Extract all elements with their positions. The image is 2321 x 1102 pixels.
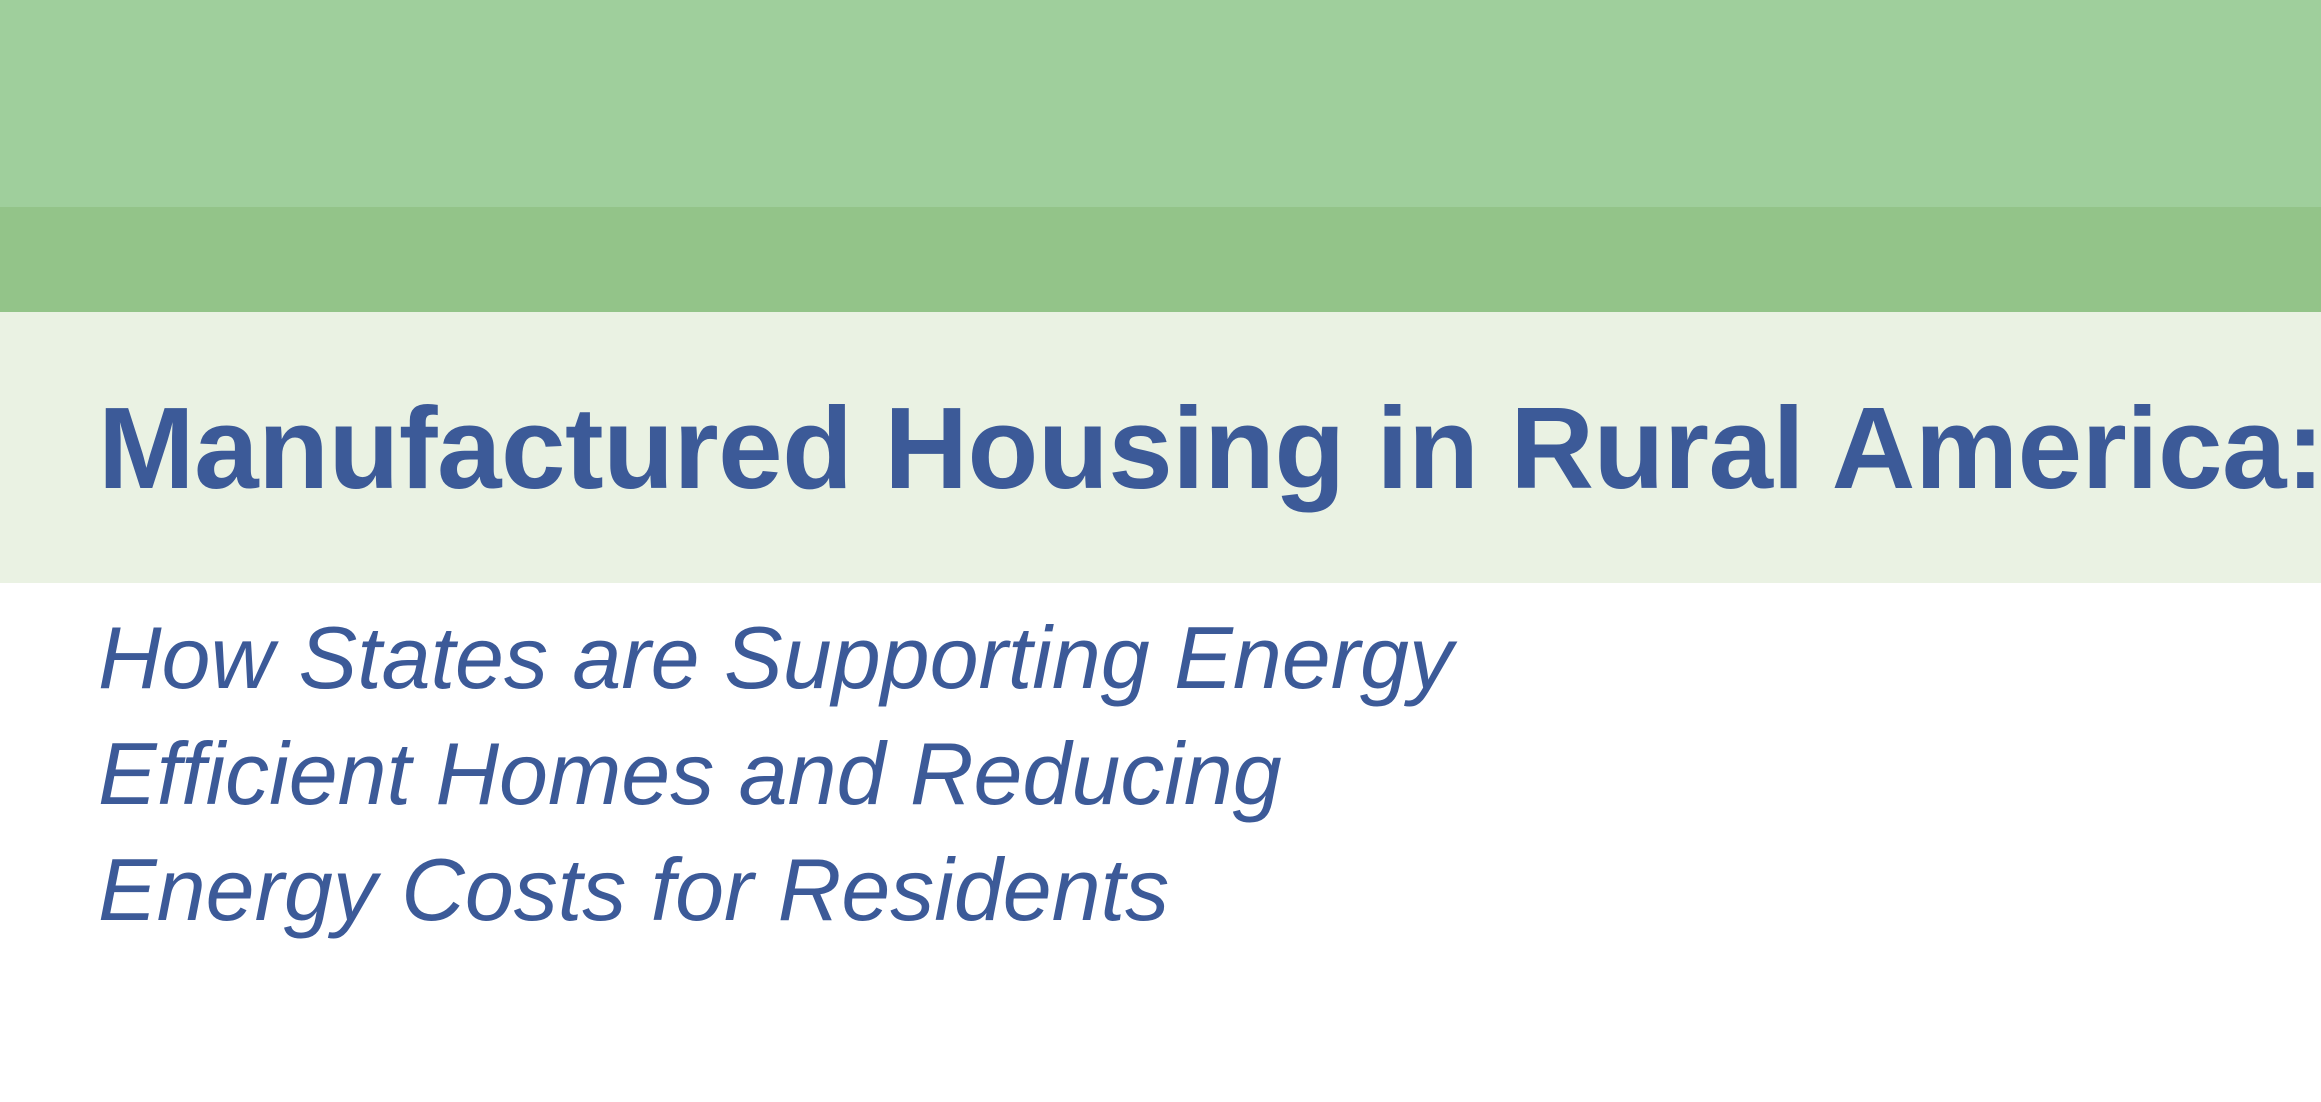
subtitle-line-2: Efficient Homes and Reducing — [98, 716, 2321, 832]
subtitle-line-1: How States are Supporting Energy — [98, 600, 2321, 716]
subtitle-line-3: Energy Costs for Residents — [98, 832, 2321, 948]
page-subtitle: How States are Supporting Energy Efficie… — [98, 600, 2321, 948]
title-slide: Manufactured Housing in Rural America: H… — [0, 0, 2321, 1102]
subtitle-container: How States are Supporting Energy Efficie… — [0, 600, 2321, 948]
title-container: Manufactured Housing in Rural America: — [0, 312, 2321, 583]
decor-band-light-green — [0, 0, 2321, 207]
page-title: Manufactured Housing in Rural America: — [0, 390, 2321, 506]
decor-band-dark-green — [0, 207, 2321, 312]
